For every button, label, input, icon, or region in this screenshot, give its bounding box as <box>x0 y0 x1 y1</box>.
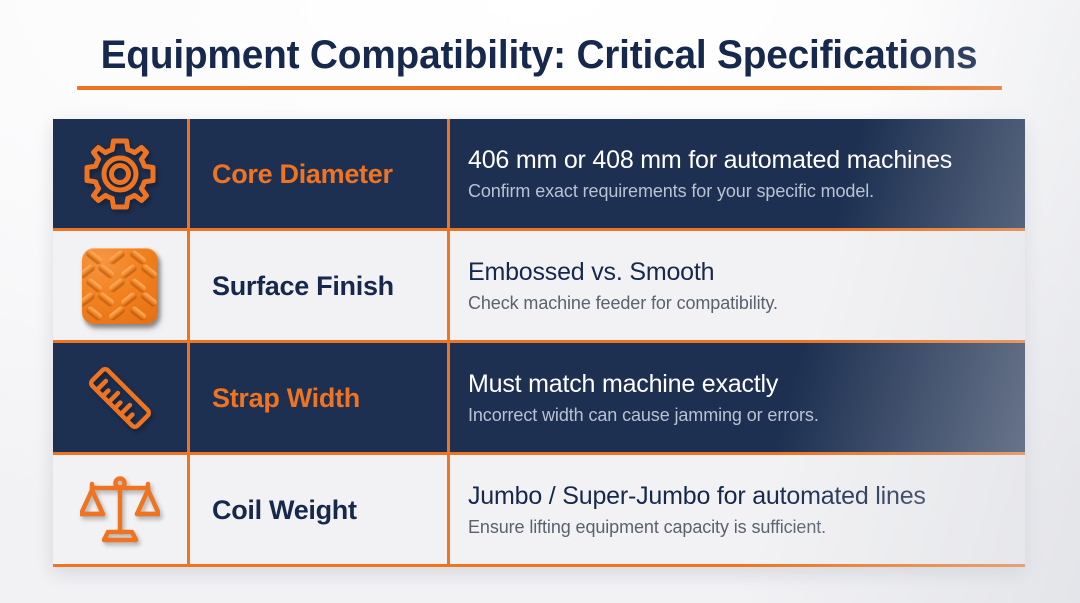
infographic-page: Equipment Compatibility: Critical Specif… <box>0 0 1080 603</box>
specifications-table: Core Diameter 406 mm or 408 mm for autom… <box>53 119 1025 567</box>
ruler-icon <box>78 356 162 440</box>
row-detail-cell: 406 mm or 408 mm for automated machines … <box>450 119 1025 228</box>
page-title-block: Equipment Compatibility: Critical Specif… <box>53 30 1025 90</box>
row-detail-sub: Incorrect width can cause jamming or err… <box>468 403 1009 427</box>
row-icon-cell <box>53 455 190 564</box>
row-detail-main: 406 mm or 408 mm for automated machines <box>468 145 1009 176</box>
table-row: Strap Width Must match machine exactly I… <box>53 343 1025 455</box>
page-title: Equipment Compatibility: Critical Specif… <box>68 30 1011 80</box>
row-detail-main: Embossed vs. Smooth <box>468 257 1009 288</box>
diamond-plate-surface <box>82 248 158 324</box>
row-detail-cell: Jumbo / Super-Jumbo for automated lines … <box>450 455 1025 564</box>
row-label-cell: Core Diameter <box>190 119 450 228</box>
row-label-cell: Coil Weight <box>190 455 450 564</box>
gear-icon <box>78 132 162 216</box>
diamond-plate-icon <box>78 244 162 328</box>
row-detail-main: Jumbo / Super-Jumbo for automated lines <box>468 481 1009 512</box>
row-label: Surface Finish <box>212 270 394 302</box>
row-icon-cell <box>53 343 190 452</box>
title-underline-rule <box>77 86 1002 90</box>
row-detail-sub: Confirm exact requirements for your spec… <box>468 179 1009 203</box>
row-label-cell: Surface Finish <box>190 231 450 340</box>
table-row: Core Diameter 406 mm or 408 mm for autom… <box>53 119 1025 231</box>
row-detail-cell: Must match machine exactly Incorrect wid… <box>450 343 1025 452</box>
row-label: Core Diameter <box>212 158 393 190</box>
row-detail-sub: Check machine feeder for compatibility. <box>468 291 1009 315</box>
balance-scale-icon <box>78 468 162 552</box>
row-detail-sub: Ensure lifting equipment capacity is suf… <box>468 515 1009 539</box>
row-label: Coil Weight <box>212 494 357 526</box>
row-label-cell: Strap Width <box>190 343 450 452</box>
row-icon-cell <box>53 119 190 228</box>
table-row: Coil Weight Jumbo / Super-Jumbo for auto… <box>53 455 1025 567</box>
row-detail-main: Must match machine exactly <box>468 369 1009 400</box>
table-row: Surface Finish Embossed vs. Smooth Check… <box>53 231 1025 343</box>
row-detail-cell: Embossed vs. Smooth Check machine feeder… <box>450 231 1025 340</box>
row-label: Strap Width <box>212 382 360 414</box>
row-icon-cell <box>53 231 190 340</box>
